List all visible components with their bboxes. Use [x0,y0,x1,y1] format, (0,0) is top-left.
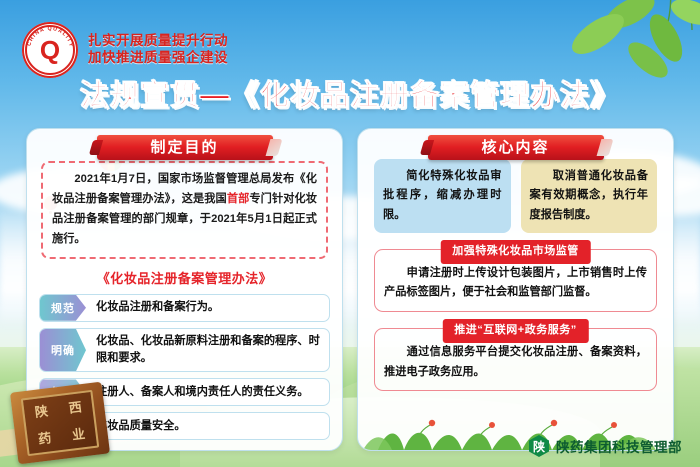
section-pill-label: 加强特殊化妆品市场监管 [440,240,591,264]
seal-char: 西 [68,400,83,414]
seal-char: 药 [37,431,52,445]
row-text: 注册人、备案人和境内责任人的责任义务。 [86,379,329,405]
row-tag: 明确 [40,329,86,372]
seal-char: 业 [71,427,86,441]
svg-text:CHINA QUALITY MONTH: CHINA QUALITY MONTH [22,22,74,50]
seal-char: 陕 [34,405,49,419]
poster-root: CHINA QUALITY MONTH Q 扎实开展质量提升行动 加快推进质量强… [0,0,700,467]
core-section: 推进“互联网+政务服务” 通过信息服务平台提交化妆品注册、备案资料，推进电子政务… [374,328,657,391]
decorative-seal-stamp: 陕 西 药 业 [10,382,110,465]
footer: 陕 陕药集团科技管理部 [529,435,682,457]
row-text: 化妆品、化妆品新原料注册和备案的程序、时限和要求。 [86,329,329,372]
core-card-text: 取消普通化妆品备案有效期概念，执行年度报告制度。 [530,170,649,221]
section-pill-label: 推进“互联网+政务服务” [442,319,588,343]
left-panel-ribbon-title: 制定目的 [97,135,273,160]
footer-text: 陕药集团科技管理部 [556,436,682,456]
core-section: 加强特殊化妆品市场监管 申请注册时上传设计包装图片，上市销售时上传产品标签图片，… [374,249,657,312]
header-slogan: 扎实开展质量提升行动 加快推进质量强企建设 [88,33,228,67]
panels-container: 制定目的 2021年1月7日，国家市场监督管理总局发布《化妆品注册备案管理办法》… [0,128,700,451]
row-text: 化妆品注册和备案行为。 [86,295,329,321]
china-quality-month-logo-icon: CHINA QUALITY MONTH Q [22,22,78,78]
core-content-cards: 简化特殊化妆品审批程序，缩减办理时限。 取消普通化妆品备案有效期概念，执行年度报… [374,159,657,233]
shaanxi-pharma-logo-icon: 陕 [529,435,549,457]
section-text: 通过信息服务平台提交化妆品注册、备案资料，推进电子政务应用。 [384,346,647,378]
seal-face: 陕 西 药 业 [21,390,100,456]
core-card-text: 简化特殊化妆品审批程序，缩减办理时限。 [383,170,502,221]
slogan-line-2: 加快推进质量强企建设 [88,50,228,67]
row-text: 化妆品质量安全。 [86,413,329,439]
right-panel: 核心内容 简化特殊化妆品审批程序，缩减办理时限。 取消普通化妆品备案有效期概念，… [357,128,674,451]
paragraph-highlight: 首部 [227,193,250,205]
table-row: 规范 化妆品注册和备案行为。 [39,294,330,322]
regulation-subtitle: 《化妆品注册备案管理办法》 [39,268,330,287]
table-row: 明确 化妆品、化妆品新原料注册和备案的程序、时限和要求。 [39,328,330,373]
right-panel-ribbon-title: 核心内容 [428,135,604,160]
header-logo-group: CHINA QUALITY MONTH Q 扎实开展质量提升行动 加快推进质量强… [22,22,228,78]
slogan-line-1: 扎实开展质量提升行动 [88,33,228,50]
section-text: 申请注册时上传设计包装图片，上市销售时上传产品标签图片，便于社会和监管部门监督。 [384,267,647,299]
row-tag: 规范 [40,295,86,321]
core-card: 取消普通化妆品备案有效期概念，执行年度报告制度。 [521,159,658,233]
page-title: 法规宣贯—《化妆品注册备案管理办法》 [0,72,700,114]
core-card: 简化特殊化妆品审批程序，缩减办理时限。 [374,159,511,233]
purpose-paragraph: 2021年1月7日，国家市场监督管理总局发布《化妆品注册备案管理办法》，这是我国… [41,161,328,259]
